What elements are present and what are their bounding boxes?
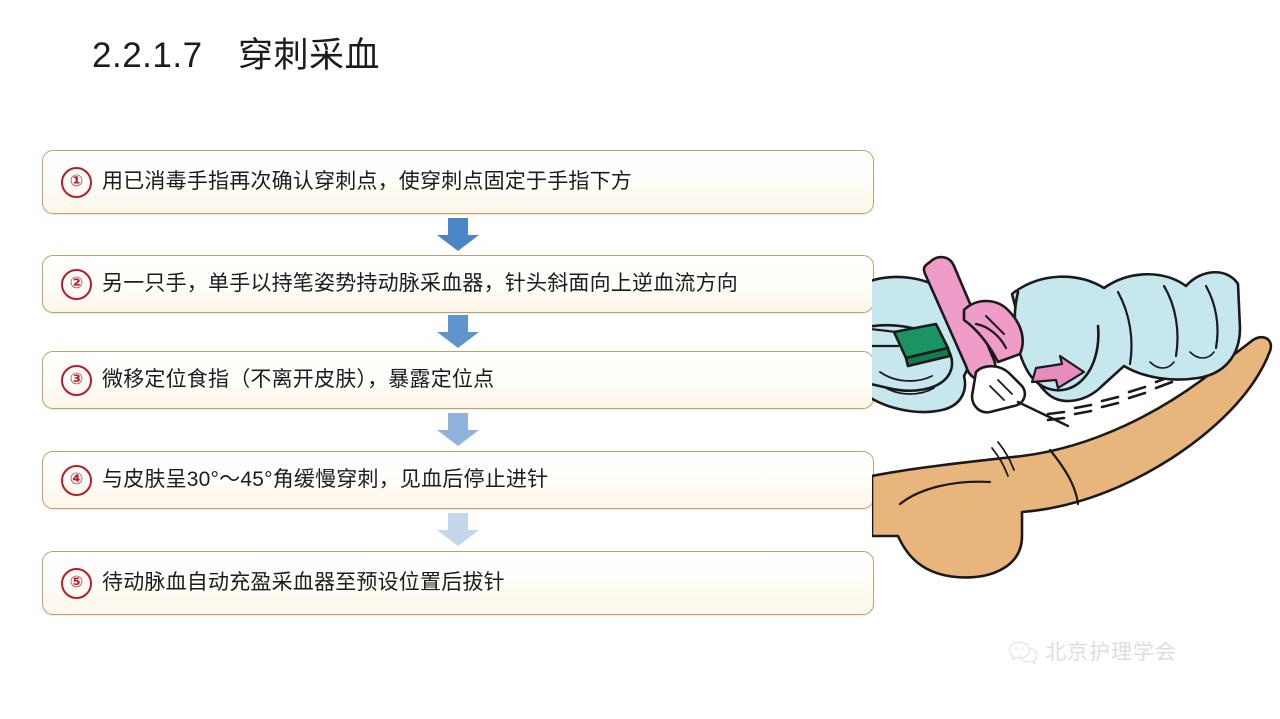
down-arrow-icon [435,218,481,252]
flow-connector-2 [42,313,874,351]
page-title: 2.2.1.7 穿刺采血 [92,33,380,79]
flow-connector-1 [42,214,874,255]
watermark: 北京护理学会 [1008,640,1177,666]
steps-flow-diagram: ① 用已消毒手指再次确认穿刺点，使穿刺点固定于手指下方 ② 另一只手，单手以持笔… [42,150,874,615]
circled-three-icon: ③ [61,365,92,396]
flow-step-1[interactable]: ① 用已消毒手指再次确认穿刺点，使穿刺点固定于手指下方 [42,150,874,214]
circled-two-icon: ② [61,269,92,300]
circled-one-icon: ① [61,167,92,198]
flow-step-2[interactable]: ② 另一只手，单手以持笔姿势持动脉采血器，针头斜面向上逆血流方向 [42,255,874,313]
flow-step-4[interactable]: ④ 与皮肤呈30°～45°角缓慢穿刺，见血后停止进针 [42,451,874,509]
circled-four-icon: ④ [61,465,92,496]
flow-connector-3 [42,409,874,451]
flow-step-3[interactable]: ③ 微移定位食指（不离开皮肤），暴露定位点 [42,351,874,409]
wechat-icon [1008,640,1038,666]
watermark-text: 北京护理学会 [1045,640,1177,666]
arterial-blood-sampling-illustration [872,236,1280,584]
flow-step-5[interactable]: ⑤ 待动脉血自动充盈采血器至预设位置后拔针 [42,551,874,615]
down-arrow-icon [435,513,481,547]
flow-step-4-text: 与皮肤呈30°～45°角缓慢穿刺，见血后停止进针 [102,466,857,494]
circled-five-icon: ⑤ [61,568,92,599]
flow-connector-4 [42,509,874,551]
flow-step-2-text: 另一只手，单手以持笔姿势持动脉采血器，针头斜面向上逆血流方向 [102,270,857,298]
flow-step-1-text: 用已消毒手指再次确认穿刺点，使穿刺点固定于手指下方 [102,168,857,196]
down-arrow-icon [435,315,481,349]
illustration-svg [872,236,1280,584]
flow-step-5-text: 待动脉血自动充盈采血器至预设位置后拔针 [102,569,857,597]
flow-step-3-text: 微移定位食指（不离开皮肤），暴露定位点 [102,366,857,394]
down-arrow-icon [435,413,481,447]
